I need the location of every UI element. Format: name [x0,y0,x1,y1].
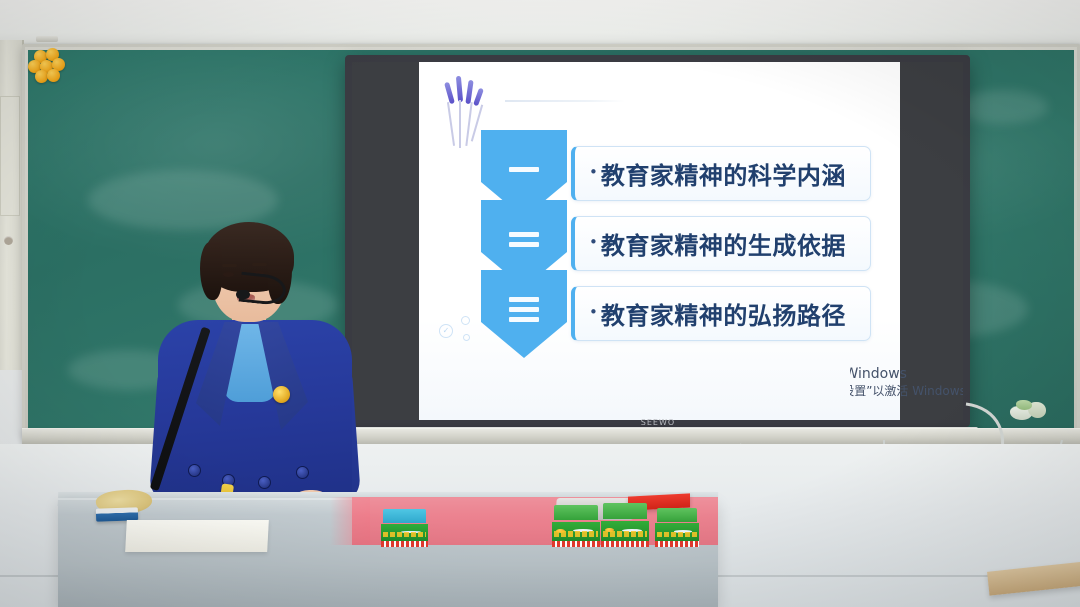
presenter-brow-right [252,263,267,266]
blazer-button-1 [188,464,201,477]
slide-divider [505,100,625,102]
headset-mic-tip [236,290,250,299]
wall-upper-band [0,0,1080,46]
slide-bullet-3: • 教育家精神的弘扬路径 [571,286,871,341]
presenter-brow-left [222,264,237,267]
watermark-line-2: 转到“设置”以激活 Windows。 [850,383,963,400]
package-text-block [383,532,426,537]
orange-ball-cluster [26,48,70,84]
slide-bullet-2-text: 教育家精神的生成依据 [601,226,846,261]
blazer-button-4 [296,466,309,479]
package-fringe [601,541,649,547]
package-top-foil [657,508,697,522]
presentation-slide: ✓ [419,62,900,420]
package-text-block [554,531,598,537]
bubble-circle-icon [461,316,470,325]
chevron-arrow-3 [481,270,567,358]
classroom-scene: ✓ [0,0,1080,607]
package-text-block [657,532,697,537]
interactive-flat-panel[interactable]: ✓ [345,55,970,427]
package-green-1[interactable] [552,505,600,547]
package-label [552,522,600,541]
presenter-eye-left [223,272,234,277]
windows-activation-watermark: 激活 Windows 转到“设置”以激活 Windows。 [850,358,963,418]
slide-bullet-1-text: 教育家精神的科学内涵 [601,156,846,191]
package-green-3[interactable] [655,508,699,547]
paper-sheet[interactable] [125,520,269,552]
panel-brand-label: SEEWO [338,418,978,427]
chevron-group [481,130,567,358]
package-label [381,524,428,541]
slide-bullet-2: • 教育家精神的生成依据 [571,216,871,271]
package-label [655,523,699,541]
bubble-circle-small-icon [463,334,470,341]
panel-screen[interactable]: ✓ [352,62,963,420]
package-cyan[interactable] [381,509,428,547]
board-clip [36,36,58,42]
watermark-line-1: 激活 Windows [850,366,963,383]
package-fringe [552,541,600,547]
presenter-hair-left [200,242,222,300]
package-green-2[interactable] [601,503,649,547]
door-inset [0,96,20,216]
package-label [601,521,649,541]
blazer-button-3 [258,476,271,489]
package-top-foil [554,505,598,520]
package-top-foil [383,509,426,523]
door-panel[interactable] [0,40,24,370]
package-top-foil [603,503,647,519]
slide-bullet-1: • 教育家精神的科学内涵 [571,146,871,201]
chalk-tray-items [1010,400,1070,426]
package-text-block [603,531,647,537]
chevron-numeral-3 [481,270,567,358]
door-knob-icon[interactable] [4,236,13,245]
package-fringe [655,541,699,547]
presenter-badge-pin [273,386,290,403]
slide-bullet-3-text: 教育家精神的弘扬路径 [601,296,846,331]
package-fringe [381,541,428,547]
check-circle-icon: ✓ [439,324,453,338]
presenter [140,228,370,518]
